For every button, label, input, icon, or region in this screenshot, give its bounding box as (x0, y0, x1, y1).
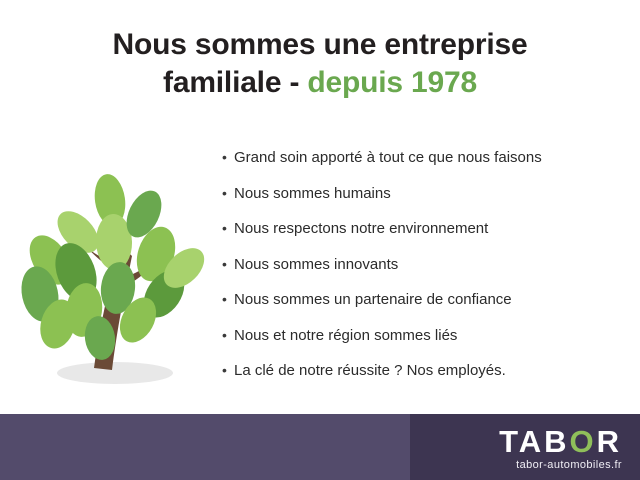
brand-name-prefix: TAB (499, 424, 569, 459)
brand-logo: TABOR tabor-automobiles.fr (499, 426, 622, 472)
list-item: • Nous sommes un partenaire de confiance (222, 290, 622, 309)
title-line-1: Nous sommes une entreprise (0, 26, 640, 64)
footer-band: TABOR tabor-automobiles.fr (0, 414, 640, 480)
list-item: • La clé de notre réussite ? Nos employé… (222, 361, 622, 380)
footer-diagonal-divider (410, 414, 470, 480)
list-item-label: Nous sommes un partenaire de confiance (234, 290, 512, 309)
bullet-icon: • (222, 219, 234, 238)
list-item: • Grand soin apporté à tout ce que nous … (222, 148, 622, 167)
list-item: • Nous et notre région sommes liés (222, 326, 622, 345)
bullet-icon: • (222, 148, 234, 167)
slide-root: Nous sommes une entreprise familiale - d… (0, 0, 640, 480)
bullet-icon: • (222, 326, 234, 345)
brand-website: tabor-automobiles.fr (499, 458, 622, 472)
bullet-icon: • (222, 361, 234, 380)
list-item: • Nous respectons notre environnement (222, 219, 622, 238)
list-item: • Nous sommes innovants (222, 255, 622, 274)
brand-name-accent-letter: O (569, 424, 596, 459)
title-year-accent: depuis 1978 (307, 66, 477, 99)
tree-illustration (14, 160, 219, 390)
footer-band-left (0, 414, 470, 480)
page-title: Nous sommes une entreprise familiale - d… (0, 26, 640, 103)
bullet-icon: • (222, 184, 234, 203)
brand-name-suffix: R (597, 424, 622, 459)
list-item-label: Grand soin apporté à tout ce que nous fa… (234, 148, 542, 167)
list-item-label: Nous sommes humains (234, 184, 391, 203)
title-line-2: familiale - depuis 1978 (0, 64, 640, 102)
bullet-list: • Grand soin apporté à tout ce que nous … (222, 148, 622, 397)
list-item-label: Nous sommes innovants (234, 255, 398, 274)
bullet-icon: • (222, 255, 234, 274)
list-item-label: Nous et notre région sommes liés (234, 326, 457, 345)
bullet-icon: • (222, 290, 234, 309)
list-item: • Nous sommes humains (222, 184, 622, 203)
tree-shadow-ellipse (57, 362, 173, 384)
list-item-label: La clé de notre réussite ? Nos employés. (234, 361, 506, 380)
title-line-2-plain: familiale - (163, 66, 299, 99)
brand-name: TABOR (499, 426, 622, 458)
list-item-label: Nous respectons notre environnement (234, 219, 488, 238)
